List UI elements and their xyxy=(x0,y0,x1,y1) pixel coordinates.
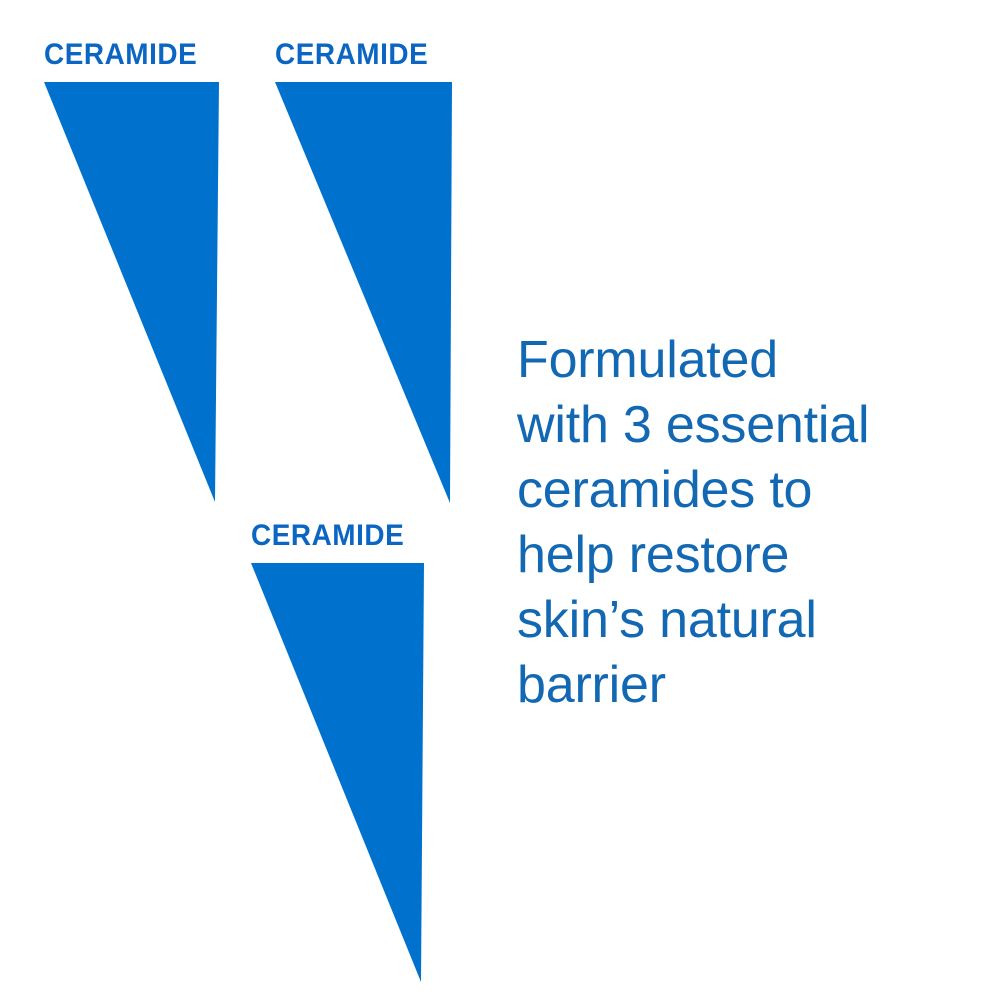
description-line: with 3 essential xyxy=(517,393,977,458)
description-line: Formulated xyxy=(517,328,977,393)
promo-graphic-canvas: CERAMIDE 1 CERAMIDE 3 CERAMIDE 6-II Form… xyxy=(0,0,1000,1000)
ceramide-6-ii-label: CERAMIDE xyxy=(251,521,404,551)
ceramide-badge-6-ii: CERAMIDE 6-II xyxy=(0,0,500,1000)
description-line: skin’s natural xyxy=(517,588,977,653)
ceramide-6-ii-triangle-icon xyxy=(0,0,500,1000)
description-line: barrier xyxy=(517,653,977,718)
description-line: ceramides to xyxy=(517,458,977,523)
description-line: help restore xyxy=(517,523,977,588)
description-text-block: Formulated with 3 essential ceramides to… xyxy=(517,328,977,718)
